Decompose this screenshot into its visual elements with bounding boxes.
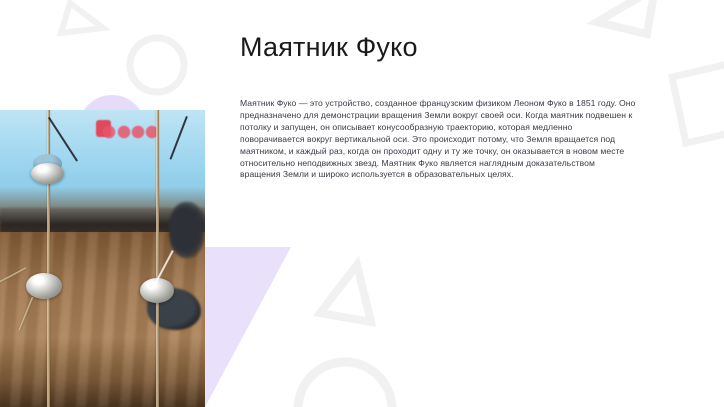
- circle-top-left-icon: [130, 38, 184, 92]
- triangle-top-right-icon: [597, 0, 655, 34]
- photo-logo-text: [100, 125, 162, 140]
- photo-content: [0, 110, 205, 407]
- slide-canvas: Маятник Фуко Маятник Фуко — это устройст…: [0, 0, 724, 407]
- body-paragraph: Маятник Фуко — это устройство, созданное…: [240, 98, 636, 181]
- triangle-bottom-center-icon: [320, 265, 371, 322]
- triangle-lavender-shape: [205, 247, 291, 407]
- photo-rod-right: [156, 110, 159, 407]
- square-right-icon: [672, 62, 724, 143]
- page-title: Маятник Фуко: [240, 32, 418, 63]
- photo-bob-left-upper: [31, 163, 64, 184]
- photo-bob-right-lower: [140, 278, 174, 303]
- triangle-top-left-icon: [61, 3, 103, 33]
- circle-bottom-center-icon: [298, 362, 392, 407]
- pendulum-photo: [0, 110, 205, 407]
- photo-shoe-back: [169, 202, 205, 258]
- photo-bob-left-lower: [26, 273, 62, 299]
